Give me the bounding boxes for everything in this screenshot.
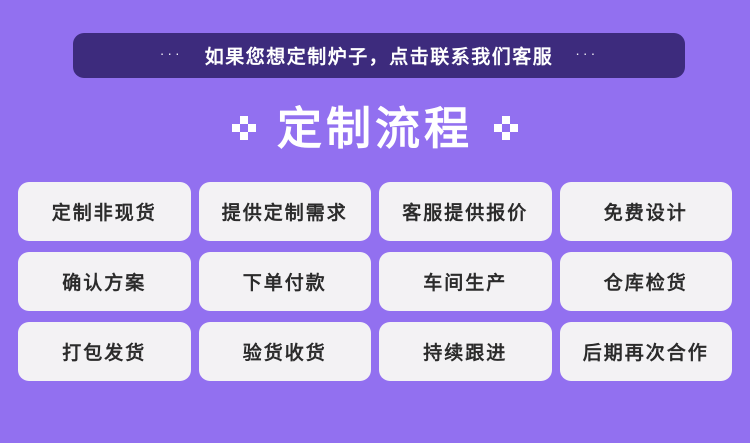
step-card[interactable]: 仓库检货	[560, 252, 733, 311]
diamond-checker-right-icon	[491, 113, 521, 143]
step-label: 提供定制需求	[222, 198, 348, 225]
step-card[interactable]: 验货收货	[199, 322, 372, 381]
step-card[interactable]: 后期再次合作	[560, 322, 733, 381]
step-label: 后期再次合作	[583, 338, 709, 365]
step-label: 客服提供报价	[402, 198, 528, 225]
step-card[interactable]: 下单付款	[199, 252, 372, 311]
process-steps-grid: 定制非现货 提供定制需求 客服提供报价 免费设计 确认方案 下单付款 车间生产 …	[18, 182, 732, 381]
step-card[interactable]: 客服提供报价	[379, 182, 552, 241]
section-title: 定制流程	[0, 96, 750, 160]
ellipsis-right-icon: ···	[575, 46, 598, 60]
step-card[interactable]: 确认方案	[18, 252, 191, 311]
contact-service-banner[interactable]: ··· 如果您想定制炉子，点击联系我们客服 ···	[73, 33, 685, 78]
step-label: 车间生产	[423, 268, 507, 295]
banner-label: 如果您想定制炉子，点击联系我们客服	[205, 42, 554, 69]
step-label: 验货收货	[243, 338, 327, 365]
step-label: 定制非现货	[52, 198, 157, 225]
step-card[interactable]: 定制非现货	[18, 182, 191, 241]
step-label: 确认方案	[62, 268, 146, 295]
step-label: 仓库检货	[604, 268, 688, 295]
step-card[interactable]: 车间生产	[379, 252, 552, 311]
diamond-checker-left-icon	[229, 113, 259, 143]
page-title: 定制流程	[277, 106, 473, 151]
step-card[interactable]: 持续跟进	[379, 322, 552, 381]
step-label: 打包发货	[62, 338, 146, 365]
step-card[interactable]: 提供定制需求	[199, 182, 372, 241]
step-label: 下单付款	[243, 268, 327, 295]
step-label: 免费设计	[604, 198, 688, 225]
step-card[interactable]: 免费设计	[560, 182, 733, 241]
step-label: 持续跟进	[423, 338, 507, 365]
custom-process-infographic: ··· 如果您想定制炉子，点击联系我们客服 ··· 定制流程 定制非现货 提供定	[0, 0, 750, 443]
step-card[interactable]: 打包发货	[18, 322, 191, 381]
ellipsis-left-icon: ···	[160, 46, 183, 60]
